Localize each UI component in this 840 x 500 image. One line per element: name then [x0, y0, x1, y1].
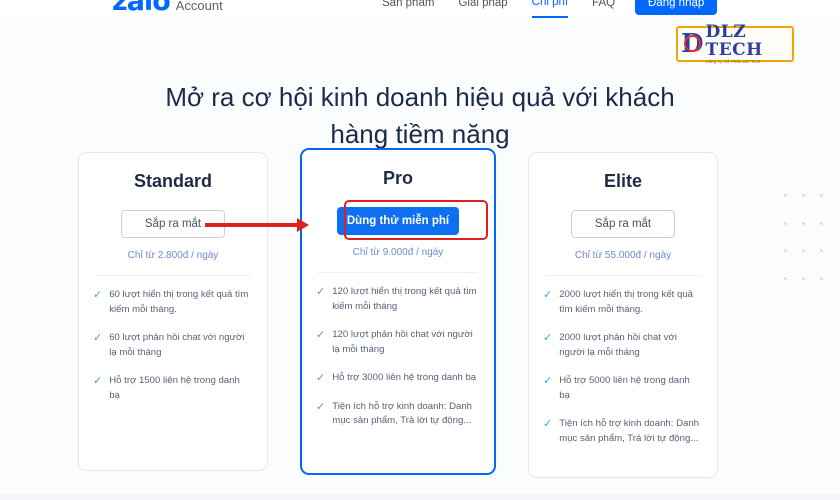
- page-title: Mở ra cơ hội kinh doanh hiệu quả với khá…: [0, 79, 840, 153]
- nav-item-pricing[interactable]: Chi phí: [532, 0, 568, 18]
- check-icon: ✓: [316, 400, 325, 414]
- plan-name: Pro: [316, 168, 480, 189]
- brand-logo-group[interactable]: zalo Account: [112, 0, 223, 17]
- list-item: ✓ Hỗ trợ 1500 liên hệ trong danh bạ: [93, 374, 253, 403]
- list-item: ✓ 120 lượt phản hồi chat với người lạ mỗ…: [316, 328, 480, 357]
- list-item: ✓ 60 lượt phản hồi chat với người lạ mỗi…: [93, 331, 253, 360]
- divider: [95, 275, 251, 276]
- check-icon: ✓: [93, 288, 102, 302]
- check-icon: ✓: [93, 374, 102, 388]
- feature-text: 120 lượt hiển thị trong kết quả tìm kiếm…: [332, 285, 480, 314]
- list-item: ✓ 60 lượt hiển thị trong kết quả tìm kiế…: [93, 288, 253, 317]
- feature-text: Hỗ trợ 3000 liên hệ trong danh bạ: [332, 371, 476, 386]
- plan-price: Chỉ từ 9.000đ / ngày: [316, 247, 480, 258]
- feature-text: Hỗ trợ 5000 liên hệ trong danh bạ: [559, 374, 703, 403]
- check-icon: ✓: [543, 331, 552, 345]
- cta-wrapper-highlighted: Dùng thử miễn phí: [316, 207, 480, 235]
- brand-subtitle: Account: [176, 0, 223, 13]
- nav-item-faq[interactable]: FAQ: [592, 0, 615, 17]
- feature-text: Tiện ích hỗ trợ kinh doanh: Danh mục sản…: [559, 417, 703, 446]
- list-item: ✓ Hỗ trợ 3000 liên hệ trong danh bạ: [316, 371, 480, 386]
- check-icon: ✓: [543, 417, 552, 431]
- feature-text: Tiện ích hỗ trợ kinh doanh: Danh mục sản…: [332, 400, 480, 429]
- check-icon: ✓: [543, 288, 552, 302]
- list-item: ✓ Tiện ích hỗ trợ kinh doanh: Danh mục s…: [316, 400, 480, 429]
- feature-text: 2000 lượt hiển thị trong kết quả tìm kiế…: [559, 288, 703, 317]
- watermark-logo: D DLZ TECH Công Ty Cổ Phần Dlz Tech: [676, 26, 794, 62]
- feature-text: 120 lượt phản hồi chat với người lạ mỗi …: [332, 328, 480, 357]
- plan-name: Elite: [543, 171, 703, 192]
- watermark-text: DLZ TECH Công Ty Cổ Phần Dlz Tech: [706, 24, 792, 64]
- plan-cta-button-trial[interactable]: Dùng thử miễn phí: [337, 207, 459, 235]
- feature-text: 60 lượt phản hồi chat với người lạ mỗi t…: [109, 331, 253, 360]
- pricing-cards: Standard Sắp ra mắt Chỉ từ 2.800đ / ngày…: [78, 152, 764, 478]
- list-item: ✓ Hỗ trợ 5000 liên hệ trong danh bạ: [543, 374, 703, 403]
- cta-wrapper: Sắp ra mắt: [543, 210, 703, 238]
- check-icon: ✓: [543, 374, 552, 388]
- divider: [318, 272, 478, 273]
- site-header: zalo Account Sản phẩm Giải pháp Chi phí …: [0, 0, 840, 22]
- list-item: ✓ Tiện ích hỗ trợ kinh doanh: Danh mục s…: [543, 417, 703, 446]
- plan-cta-button[interactable]: Sắp ra mắt: [571, 210, 675, 238]
- check-icon: ✓: [316, 285, 325, 299]
- plan-cta-button[interactable]: Sắp ra mắt: [121, 210, 225, 238]
- cta-wrapper: Sắp ra mắt: [93, 210, 253, 238]
- plan-price: Chỉ từ 2.800đ / ngày: [93, 250, 253, 261]
- check-icon: ✓: [93, 331, 102, 345]
- plan-price: Chỉ từ 55.000đ / ngày: [543, 250, 703, 261]
- watermark-caption: Công Ty Cổ Phần Dlz Tech: [706, 60, 792, 64]
- zalo-logo-text: zalo: [112, 0, 170, 17]
- decorative-dot-grid: [776, 182, 830, 292]
- check-icon: ✓: [316, 371, 325, 385]
- list-item: ✓ 2000 lượt hiển thị trong kết quả tìm k…: [543, 288, 703, 317]
- plan-name: Standard: [93, 171, 253, 192]
- divider: [545, 275, 701, 276]
- plan-card-elite: Elite Sắp ra mắt Chỉ từ 55.000đ / ngày ✓…: [528, 152, 718, 478]
- watermark-title: DLZ TECH: [706, 24, 792, 60]
- list-item: ✓ 120 lượt hiển thị trong kết quả tìm ki…: [316, 285, 480, 314]
- main-nav: Sản phẩm Giải pháp Chi phí FAQ: [382, 0, 615, 18]
- watermark-letter-icon: D: [681, 31, 704, 57]
- feature-text: 2000 lượt phản hồi chat với người lạ mỗi…: [559, 331, 703, 360]
- nav-item-solutions[interactable]: Giải pháp: [458, 0, 507, 17]
- plan-card-standard: Standard Sắp ra mắt Chỉ từ 2.800đ / ngày…: [78, 152, 268, 471]
- list-item: ✓ 2000 lượt phản hồi chat với người lạ m…: [543, 331, 703, 360]
- nav-item-products[interactable]: Sản phẩm: [382, 0, 434, 17]
- check-icon: ✓: [316, 328, 325, 342]
- page-bottom-edge: [0, 494, 840, 500]
- feature-text: 60 lượt hiển thị trong kết quả tìm kiếm …: [109, 288, 253, 317]
- feature-text: Hỗ trợ 1500 liên hệ trong danh bạ: [109, 374, 253, 403]
- plan-card-pro: Pro Dùng thử miễn phí Chỉ từ 9.000đ / ng…: [300, 148, 496, 475]
- login-button[interactable]: Đăng nhập: [635, 0, 717, 15]
